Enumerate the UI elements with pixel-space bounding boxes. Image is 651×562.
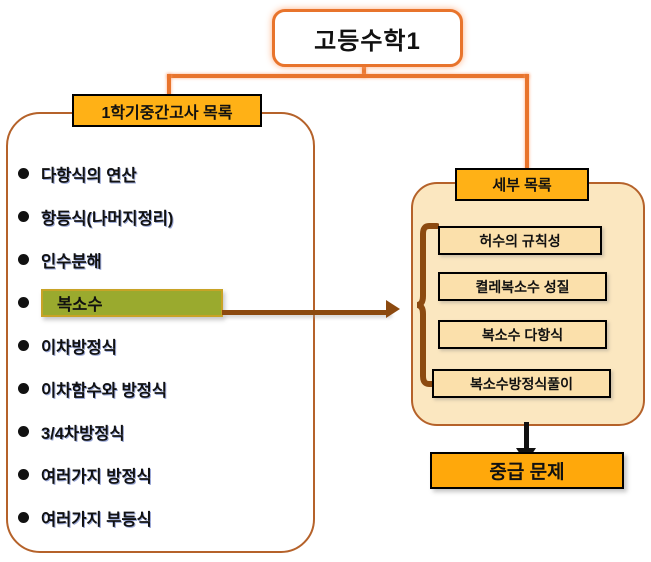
sub-item-label: 켤레복소수 성질 (475, 277, 569, 297)
bullet-icon (18, 340, 29, 351)
list-item-label: 인수분해 (41, 248, 102, 272)
list-item[interactable]: 여러가지 부등식 (18, 496, 308, 539)
list-item-label: 3/4차방정식 (41, 420, 125, 444)
sub-item[interactable]: 켤레복소수 성질 (438, 272, 607, 301)
list-item-highlighted[interactable]: 복소수 (18, 281, 308, 324)
sub-item[interactable]: 복소수방정식풀이 (432, 369, 611, 398)
sub-item-label: 복소수 다항식 (482, 325, 563, 345)
list-item[interactable]: 이차방정식 (18, 324, 308, 367)
diagram-title: 고등수학1 (272, 9, 463, 67)
bullet-icon (18, 426, 29, 437)
list-item-label: 항등식(나머지정리) (41, 205, 173, 229)
list-item[interactable]: 이차함수와 방정식 (18, 367, 308, 410)
connector-horizontal-bus (167, 74, 529, 78)
bullet-icon (18, 168, 29, 179)
list-item-label: 이차방정식 (41, 334, 117, 358)
list-item[interactable]: 여러가지 방정식 (18, 453, 308, 496)
list-item[interactable]: 인수분해 (18, 238, 308, 281)
list-item-label: 이차함수와 방정식 (41, 377, 167, 401)
list-item[interactable]: 항등식(나머지정리) (18, 195, 308, 238)
curly-brace-icon (417, 222, 439, 388)
diagram-title-label: 고등수학1 (314, 21, 421, 56)
sub-item-label: 복소수방정식풀이 (470, 374, 573, 394)
bullet-icon (18, 211, 29, 222)
left-panel-header-label: 1학기중간고사 목록 (101, 99, 232, 123)
list-item-label: 다항식의 연산 (41, 162, 137, 186)
advanced-problems-box[interactable]: 중급 문제 (430, 452, 624, 489)
list-item-label: 여러가지 부등식 (41, 506, 152, 530)
sub-item-label: 허수의 규칙성 (479, 231, 560, 251)
bullet-icon (18, 512, 29, 523)
exam-topic-list: 다항식의 연산 항등식(나머지정리) 인수분해 복소수 이차방정식 이차함수와 … (18, 152, 308, 539)
sub-item[interactable]: 복소수 다항식 (438, 320, 607, 349)
bullet-icon (18, 383, 29, 394)
list-item-label: 복소수 (41, 289, 223, 317)
list-item[interactable]: 3/4차방정식 (18, 410, 308, 453)
diagram-canvas: 고등수학1 1학기중간고사 목록 다항식의 연산 항등식(나머지정리) 인수분해… (0, 0, 651, 562)
right-panel-header-label: 세부 목록 (492, 174, 551, 195)
connector-arrow-line (222, 310, 390, 315)
bullet-icon (18, 469, 29, 480)
left-panel-header: 1학기중간고사 목록 (72, 94, 262, 127)
advanced-problems-label: 중급 문제 (489, 457, 564, 484)
connector-arrow-head-icon (386, 300, 400, 318)
sub-item[interactable]: 허수의 규칙성 (438, 226, 602, 255)
bullet-icon (18, 254, 29, 265)
list-item-label: 여러가지 방정식 (41, 463, 152, 487)
connector-right-drop (525, 74, 529, 174)
bullet-icon (18, 297, 29, 308)
right-panel-header: 세부 목록 (455, 168, 589, 201)
list-item[interactable]: 다항식의 연산 (18, 152, 308, 195)
